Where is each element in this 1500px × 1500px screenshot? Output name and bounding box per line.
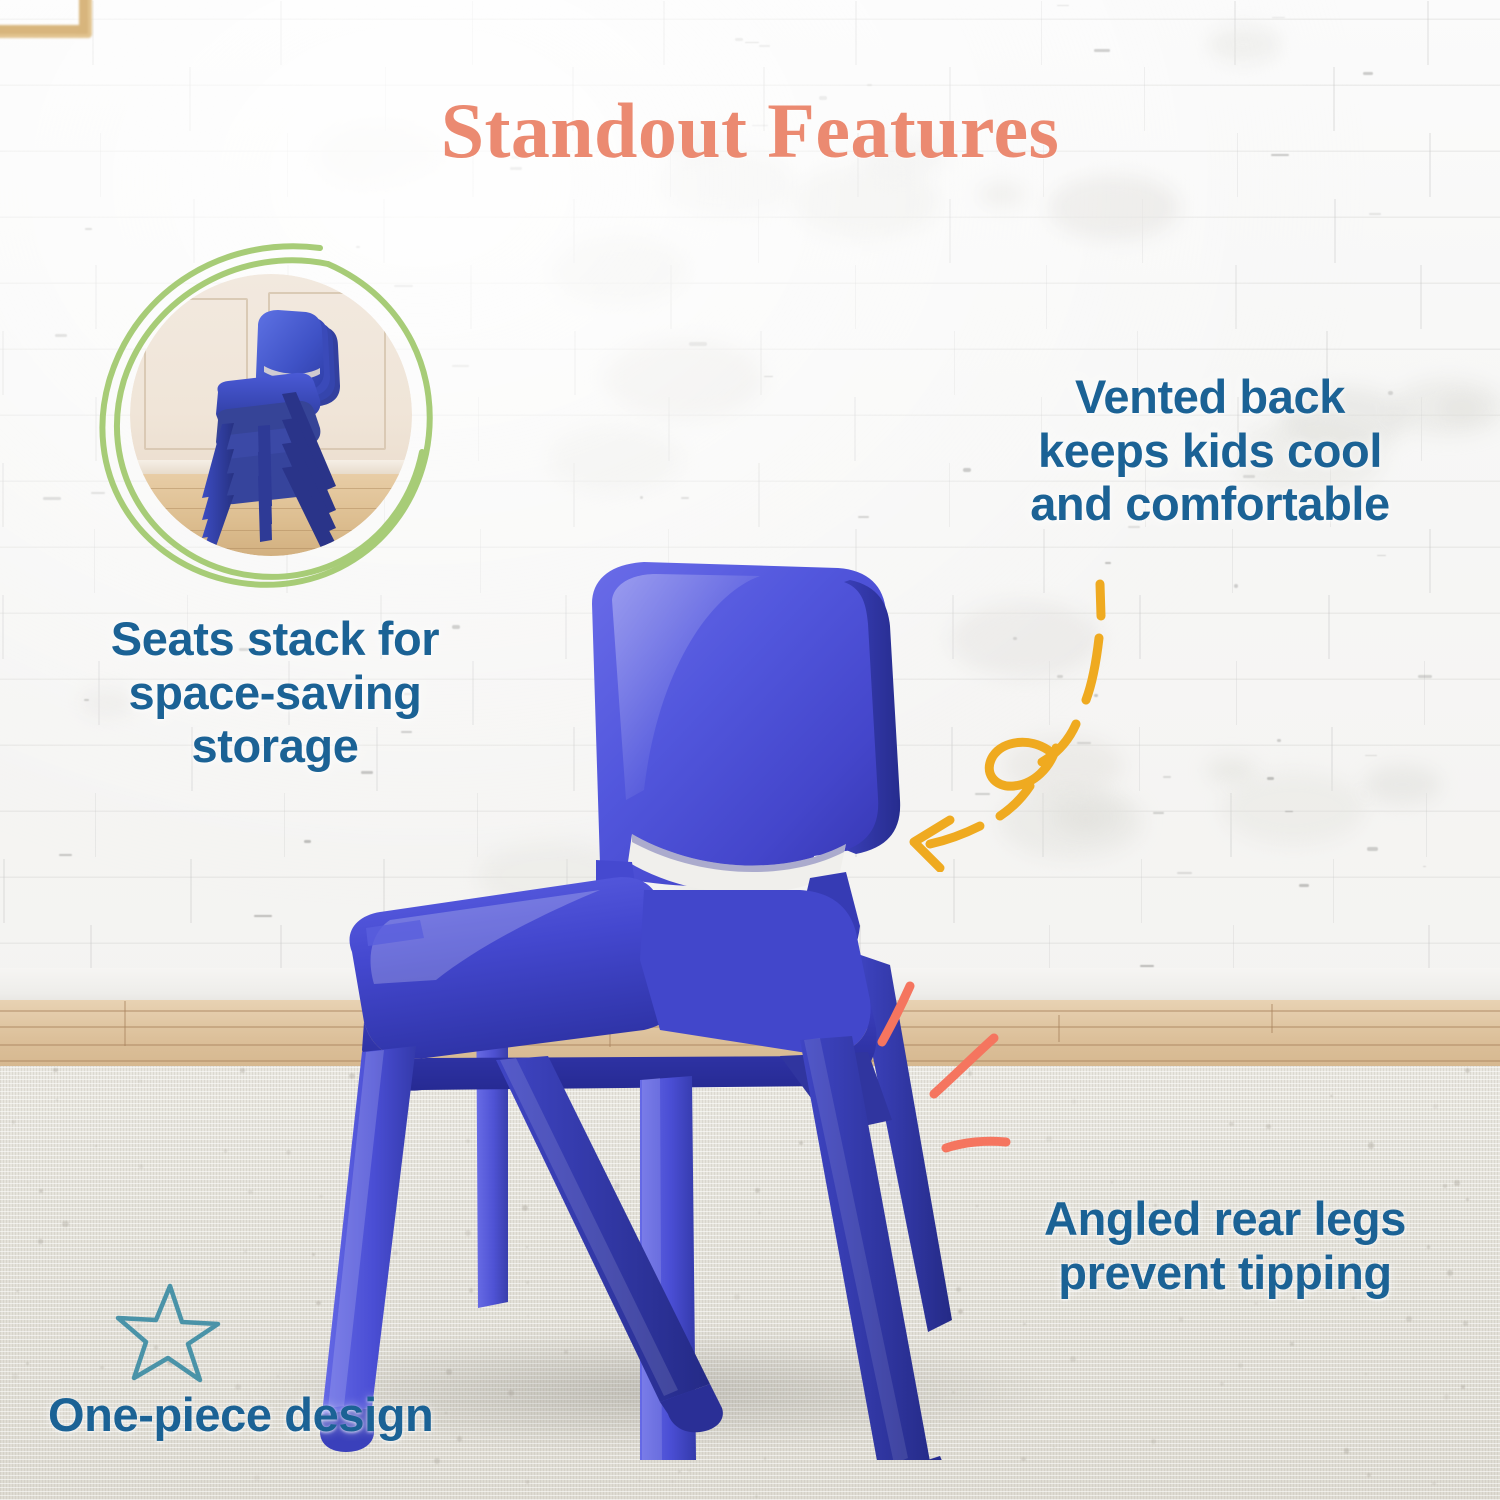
picture-frame-corner xyxy=(0,0,92,38)
callout-line: One-piece design xyxy=(48,1388,568,1442)
callout-line: and comfortable xyxy=(960,477,1460,531)
inset-stacked-chairs xyxy=(130,274,412,556)
callout-line: keeps kids cool xyxy=(960,424,1460,478)
callout-line: space-saving xyxy=(40,666,510,720)
callout-line: Seats stack for xyxy=(40,612,510,666)
callout-angled-rear-legs: Angled rear legs prevent tipping xyxy=(985,1192,1465,1299)
callout-one-piece-design: One-piece design xyxy=(48,1388,568,1442)
callout-vented-back: Vented back keeps kids cool and comforta… xyxy=(960,370,1460,531)
callout-seats-stack: Seats stack for space-saving storage xyxy=(40,612,510,773)
callout-line: storage xyxy=(40,719,510,773)
callout-line: Vented back xyxy=(960,370,1460,424)
infographic-canvas: Standout Features Vented back keeps kids… xyxy=(0,0,1500,1500)
page-title: Standout Features xyxy=(0,86,1500,176)
callout-line: Angled rear legs xyxy=(985,1192,1465,1246)
callout-line: prevent tipping xyxy=(985,1246,1465,1300)
stacked-chairs-inset-photo xyxy=(130,274,412,556)
